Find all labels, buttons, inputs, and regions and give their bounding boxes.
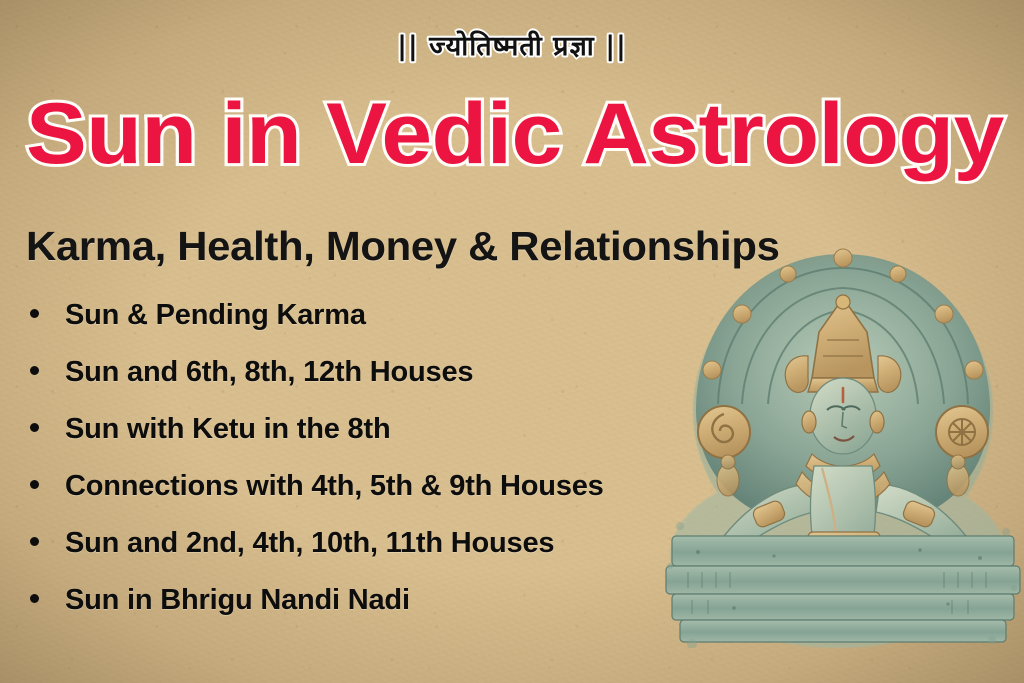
page-subtitle: Karma, Health, Money & Relationships [26,222,780,270]
sanskrit-header: || ज्योतिष्मती प्रज्ञा || [0,30,1024,64]
list-item-label: Sun & Pending Karma [65,298,366,332]
list-item: Sun and 2nd, 4th, 10th, 11th Houses [30,526,720,583]
page-title: Sun in Vedic Astrology [26,88,1024,180]
list-item: Sun & Pending Karma [30,298,720,355]
list-item: Connections with 4th, 5th & 9th Houses [30,469,720,526]
bullet-dot-icon [30,594,39,603]
list-item-label: Sun and 6th, 8th, 12th Houses [65,355,473,389]
list-item-label: Connections with 4th, 5th & 9th Houses [65,469,604,503]
poster-canvas: || ज्योतिष्मती प्रज्ञा || Sun in Vedic A… [0,0,1024,683]
list-item: Sun with Ketu in the 8th [30,412,720,469]
bullet-dot-icon [30,537,39,546]
bullet-dot-icon [30,423,39,432]
bullet-dot-icon [30,309,39,318]
list-item-label: Sun and 2nd, 4th, 10th, 11th Houses [65,526,554,560]
topics-list: Sun & Pending Karma Sun and 6th, 8th, 12… [30,298,720,640]
list-item-label: Sun with Ketu in the 8th [65,412,390,446]
bullet-dot-icon [30,480,39,489]
list-item-label: Sun in Bhrigu Nandi Nadi [65,583,410,617]
list-item: Sun and 6th, 8th, 12th Houses [30,355,720,412]
list-item: Sun in Bhrigu Nandi Nadi [30,583,720,640]
bullet-dot-icon [30,366,39,375]
